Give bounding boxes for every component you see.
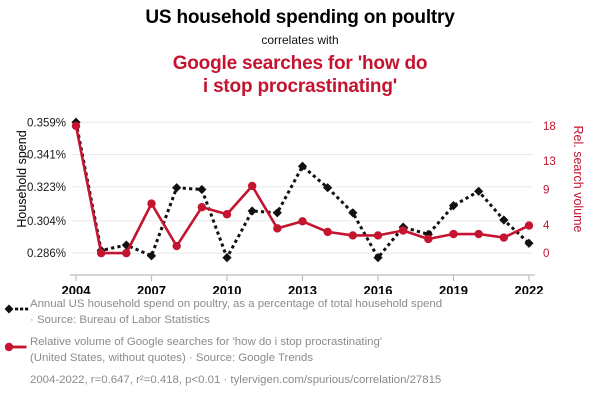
data-point [273,224,281,232]
legend-item-searches: Relative volume of Google searches for '… [0,335,600,366]
x-tick: 2019 [439,283,468,294]
legend-item-poultry: Annual US household spend on poultry, as… [0,297,600,328]
legend-label-searches: Relative volume of Google searches for '… [30,335,382,366]
y-tick-left: 0.359% [27,117,66,129]
x-tick: 2004 [62,283,92,294]
page-title: US household spending on poultry [0,6,600,30]
series-line-0 [76,122,529,257]
x-tick: 2016 [364,283,393,294]
data-point [248,182,256,190]
data-point [349,231,357,239]
legend-label-searches-line1: Relative volume of Google searches for '… [30,336,382,348]
y-tick-left: 0.286% [27,248,66,260]
y-tick-left: 0.341% [27,150,66,162]
chart-footer: Annual US household spend on poultry, as… [0,297,600,389]
chart-footnote: 2004-2022, r=0.647, r²=0.418, p<0.01 · t… [0,373,600,389]
plot-svg: 0.286%0.304%0.323%0.341%0.359%0491318200… [0,104,600,294]
y-tick-left: 0.323% [27,182,66,194]
correlates-with-label: correlates with [0,31,600,49]
y-tick-right: 18 [543,121,556,133]
legend-label-poultry: Annual US household spend on poultry, as… [30,297,442,328]
data-point [147,199,155,207]
data-point [122,249,130,257]
black-diamond-dotted-icon [4,297,30,319]
title-block: US household spending on poultry correla… [0,0,600,98]
data-point [500,233,508,241]
data-point [374,231,382,239]
page-subtitle-line1: Google searches for 'how do [0,52,600,75]
y-tick-right: 9 [543,185,549,197]
y-tick-right: 0 [543,248,549,260]
legend-label-poultry-line1: Annual US household spend on poultry, as… [30,298,442,310]
x-tick: 2013 [288,283,317,294]
x-tick: 2007 [137,283,166,294]
series-line-1 [76,126,529,253]
data-point [298,217,306,225]
data-point [223,210,231,218]
data-point [97,249,105,257]
chart-page: US household spending on poultry correla… [0,0,600,414]
data-point [524,239,533,248]
legend-label-poultry-line2: · Source: Bureau of Labor Statistics [30,313,442,329]
data-point [449,230,457,238]
data-point [197,185,206,194]
legend-label-searches-line2: (United States, without quotes) · Source… [30,351,382,367]
red-circle-solid-icon [4,335,30,357]
y-tick-right: 13 [543,156,556,168]
data-point [72,122,80,130]
data-point [198,203,206,211]
data-point [172,183,181,192]
data-point [474,230,482,238]
data-point [172,242,180,250]
chart-area: Household spend Rel. search volume 0.286… [0,104,600,294]
page-subtitle-line2: i stop procrastinating' [0,75,600,98]
x-tick: 2010 [213,283,242,294]
data-point [323,228,331,236]
data-point [525,221,533,229]
x-tick: 2022 [515,283,544,294]
data-point [248,206,257,215]
data-point [147,251,156,260]
y-tick-left: 0.304% [27,216,66,228]
y-tick-right: 4 [543,220,550,232]
data-point [424,235,432,243]
data-point [399,226,407,234]
page-subtitle: Google searches for 'how do i stop procr… [0,52,600,98]
